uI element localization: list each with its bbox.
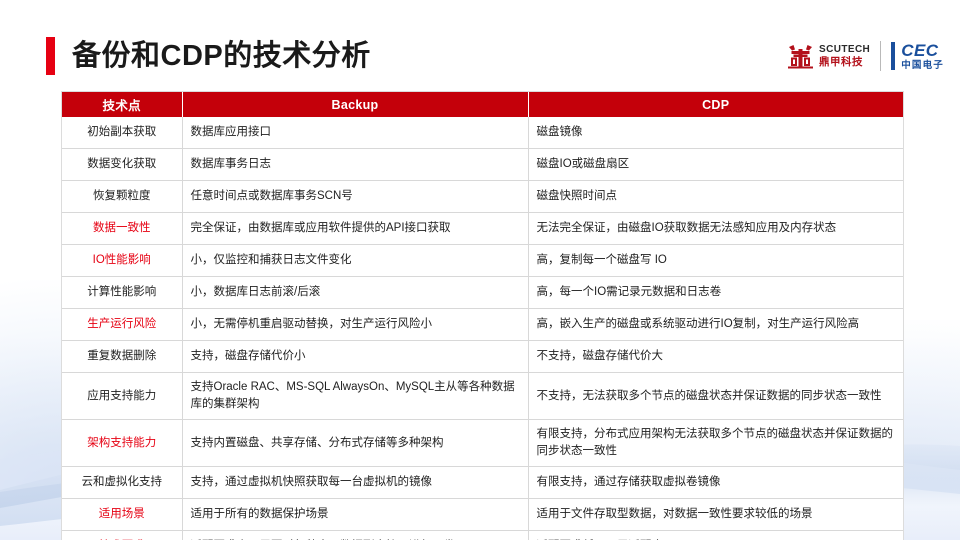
- cec-english-name: CEC: [901, 42, 944, 59]
- table-row: 生产运行风险小，无需停机重启驱动替换，对生产运行风险小高，嵌入生产的磁盘或系统驱…: [62, 309, 903, 341]
- cell-tech-point: IO性能影响: [62, 245, 182, 277]
- cell-tech-point: 恢复颗粒度: [62, 181, 182, 213]
- table-row: 初始副本获取数据库应用接口磁盘镜像: [62, 117, 903, 149]
- cell-tech-point: 数据变化获取: [62, 149, 182, 181]
- cell-tech-point: 重复数据删除: [62, 341, 182, 373]
- cell-backup: 小，数据库日志前滚/后滚: [182, 277, 528, 309]
- table-row: 技术要求适配要求高，需要对每种应用数据副本接口进行开发适配要求低，无需适配应用: [62, 531, 903, 540]
- cell-tech-point: 生产运行风险: [62, 309, 182, 341]
- scutech-logo: SCUTECH 鼎甲科技: [787, 44, 870, 69]
- cell-cdp: 适配要求低，无需适配应用: [528, 531, 903, 540]
- table-row: 数据一致性完全保证，由数据库或应用软件提供的API接口获取无法完全保证，由磁盘I…: [62, 213, 903, 245]
- scutech-emblem-icon: [787, 44, 814, 69]
- cell-tech-point: 技术要求: [62, 531, 182, 540]
- cell-backup: 数据库应用接口: [182, 117, 528, 149]
- table-row: IO性能影响小，仅监控和捕获日志文件变化高，复制每一个磁盘写 IO: [62, 245, 903, 277]
- cell-backup: 支持，通过虚拟机快照获取每一台虚拟机的镜像: [182, 467, 528, 499]
- cell-cdp: 有限支持，分布式应用架构无法获取多个节点的磁盘状态并保证数据的同步状态一致性: [528, 420, 903, 467]
- logo-group: SCUTECH 鼎甲科技 CEC 中国电子: [787, 38, 944, 74]
- cell-tech-point: 初始副本获取: [62, 117, 182, 149]
- cec-wordmark: CEC 中国电子: [901, 42, 944, 71]
- cell-tech-point: 计算性能影响: [62, 277, 182, 309]
- table-body: 初始副本获取数据库应用接口磁盘镜像数据变化获取数据库事务日志磁盘IO或磁盘扇区恢…: [62, 117, 903, 540]
- comparison-table-container: 技术点 Backup CDP 初始副本获取数据库应用接口磁盘镜像数据变化获取数据…: [62, 92, 903, 540]
- page-title: 备份和CDP的技术分析: [72, 42, 371, 71]
- cell-cdp: 高，复制每一个磁盘写 IO: [528, 245, 903, 277]
- cec-logo: CEC 中国电子: [891, 42, 944, 71]
- scutech-english-name: SCUTECH: [819, 45, 870, 55]
- cec-chinese-name: 中国电子: [901, 61, 944, 71]
- cec-accent-bar: [891, 42, 895, 70]
- cell-backup: 小，无需停机重启驱动替换，对生产运行风险小: [182, 309, 528, 341]
- cell-cdp: 不支持，无法获取多个节点的磁盘状态并保证数据的同步状态一致性: [528, 373, 903, 420]
- table-header-row: 技术点 Backup CDP: [62, 92, 903, 117]
- cell-backup: 支持，磁盘存储代价小: [182, 341, 528, 373]
- column-header-cdp: CDP: [528, 92, 903, 117]
- cell-cdp: 高，嵌入生产的磁盘或系统驱动进行IO复制，对生产运行风险高: [528, 309, 903, 341]
- table-row: 计算性能影响小，数据库日志前滚/后滚高，每一个IO需记录元数据和日志卷: [62, 277, 903, 309]
- table-row: 云和虚拟化支持支持，通过虚拟机快照获取每一台虚拟机的镜像有限支持，通过存储获取虚…: [62, 467, 903, 499]
- table-row: 恢复颗粒度任意时间点或数据库事务SCN号磁盘快照时间点: [62, 181, 903, 213]
- scutech-wordmark: SCUTECH 鼎甲科技: [819, 45, 870, 68]
- cell-cdp: 无法完全保证，由磁盘IO获取数据无法感知应用及内存状态: [528, 213, 903, 245]
- title-accent-bar: [46, 37, 55, 75]
- slide-title-block: 备份和CDP的技术分析: [46, 34, 371, 78]
- column-header-backup: Backup: [182, 92, 528, 117]
- cell-backup: 适用于所有的数据保护场景: [182, 499, 528, 531]
- cell-cdp: 适用于文件存取型数据，对数据一致性要求较低的场景: [528, 499, 903, 531]
- cell-cdp: 磁盘快照时间点: [528, 181, 903, 213]
- cell-backup: 支持Oracle RAC、MS-SQL AlwaysOn、MySQL主从等各种数…: [182, 373, 528, 420]
- cell-cdp: 高，每一个IO需记录元数据和日志卷: [528, 277, 903, 309]
- cell-tech-point: 适用场景: [62, 499, 182, 531]
- table-row: 架构支持能力支持内置磁盘、共享存储、分布式存储等多种架构有限支持，分布式应用架构…: [62, 420, 903, 467]
- cell-backup: 适配要求高，需要对每种应用数据副本接口进行开发: [182, 531, 528, 540]
- table-row: 数据变化获取数据库事务日志磁盘IO或磁盘扇区: [62, 149, 903, 181]
- cell-backup: 小，仅监控和捕获日志文件变化: [182, 245, 528, 277]
- slide-canvas: 备份和CDP的技术分析 SCUTECH 鼎甲科技: [0, 0, 960, 540]
- cell-tech-point: 云和虚拟化支持: [62, 467, 182, 499]
- cell-tech-point: 架构支持能力: [62, 420, 182, 467]
- logo-divider: [880, 41, 881, 71]
- cell-cdp: 不支持，磁盘存储代价大: [528, 341, 903, 373]
- cell-cdp: 磁盘镜像: [528, 117, 903, 149]
- cell-cdp: 磁盘IO或磁盘扇区: [528, 149, 903, 181]
- table-row: 应用支持能力支持Oracle RAC、MS-SQL AlwaysOn、MySQL…: [62, 373, 903, 420]
- table-row: 适用场景适用于所有的数据保护场景适用于文件存取型数据，对数据一致性要求较低的场景: [62, 499, 903, 531]
- cell-backup: 支持内置磁盘、共享存储、分布式存储等多种架构: [182, 420, 528, 467]
- cell-backup: 完全保证，由数据库或应用软件提供的API接口获取: [182, 213, 528, 245]
- table-row: 重复数据删除支持，磁盘存储代价小不支持，磁盘存储代价大: [62, 341, 903, 373]
- cell-backup: 任意时间点或数据库事务SCN号: [182, 181, 528, 213]
- backup-vs-cdp-table: 技术点 Backup CDP 初始副本获取数据库应用接口磁盘镜像数据变化获取数据…: [62, 92, 903, 540]
- cell-tech-point: 应用支持能力: [62, 373, 182, 420]
- column-header-tech-point: 技术点: [62, 92, 182, 117]
- cell-cdp: 有限支持，通过存储获取虚拟卷镜像: [528, 467, 903, 499]
- scutech-chinese-name: 鼎甲科技: [819, 57, 870, 68]
- cell-tech-point: 数据一致性: [62, 213, 182, 245]
- cell-backup: 数据库事务日志: [182, 149, 528, 181]
